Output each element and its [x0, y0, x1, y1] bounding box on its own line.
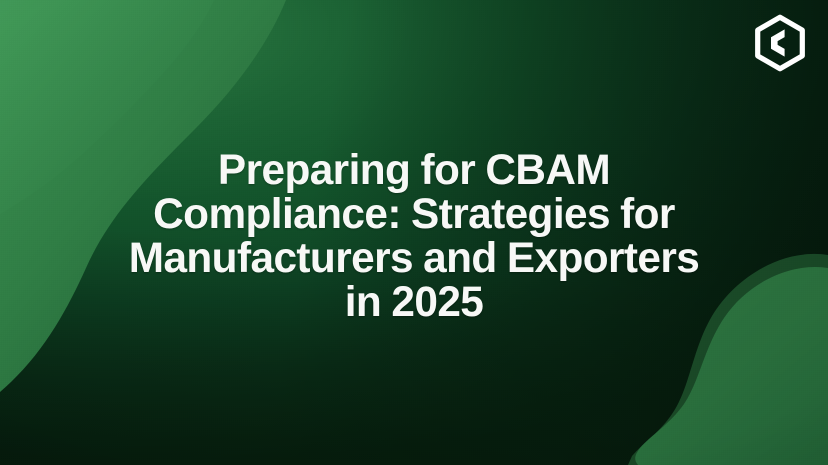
- headline-container: Preparing for CBAM Compliance: Strategie…: [0, 148, 828, 324]
- brand-logo[interactable]: [751, 14, 809, 72]
- logo-inner-chevron: [771, 29, 785, 56]
- hero-card: Preparing for CBAM Compliance: Strategie…: [0, 0, 828, 465]
- page-title: Preparing for CBAM Compliance: Strategie…: [119, 148, 710, 324]
- logo-outer-hexagon: [758, 17, 803, 69]
- hexagon-chevron-logo-icon: [751, 14, 809, 72]
